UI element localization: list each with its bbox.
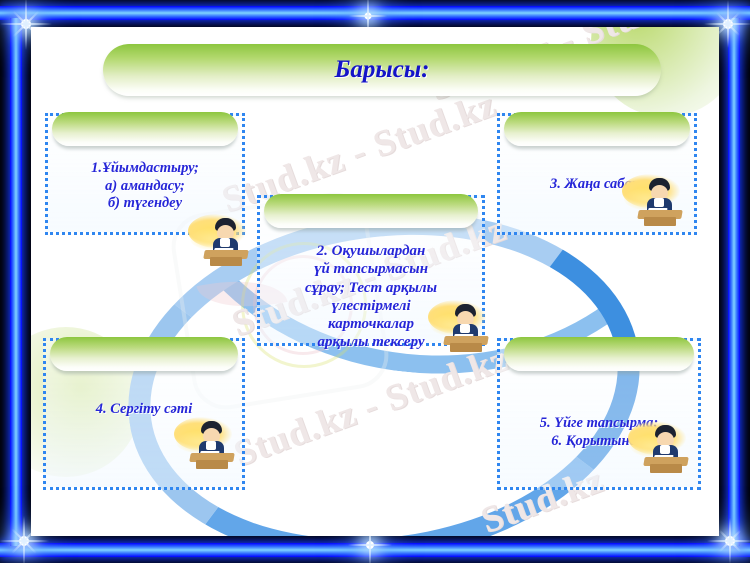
neon-border-right	[728, 18, 740, 546]
content-box-4[interactable]: 4. Сергіту сәті	[43, 338, 245, 490]
slide-frame: Stud.kz - Stud.kz Stud.kz - Stud.kz Stud…	[0, 0, 750, 563]
box-header-bar	[504, 112, 690, 146]
neon-border-left	[10, 18, 22, 546]
student-at-desk-icon	[622, 172, 684, 228]
content-line: 1.Ұйымдастыру;	[48, 160, 242, 178]
box-header-bar	[50, 337, 238, 371]
content-box-1-text: 1.Ұйымдастыру; а) амандасу; б) түгендеу	[48, 160, 242, 213]
content-box-2[interactable]: 2. Оқушылардан үй тапсырмасын сұрау; Тес…	[257, 195, 485, 346]
content-line: сұрау; Тест арқылы	[260, 279, 482, 297]
student-at-desk-icon	[428, 298, 490, 354]
student-at-desk-icon	[174, 415, 236, 471]
content-line: үй тапсырмасын	[260, 260, 482, 278]
content-box-3[interactable]: 3. Жаңа сабақ;	[497, 113, 697, 235]
page-title: Барысы:	[335, 56, 430, 84]
content-line: б) түгендеу	[48, 195, 242, 213]
content-box-1[interactable]: 1.Ұйымдастыру; а) амандасу; б) түгендеу	[45, 113, 245, 235]
student-at-desk-icon	[188, 212, 250, 268]
title-banner: Барысы:	[103, 44, 661, 96]
box-header-bar	[52, 112, 238, 146]
box-header-bar	[504, 337, 694, 371]
student-at-desk-icon	[628, 419, 690, 475]
box-header-bar	[264, 194, 478, 228]
content-line: 2. Оқушылардан	[260, 242, 482, 260]
neon-border-top	[0, 6, 750, 20]
content-line: а) амандасу;	[48, 178, 242, 196]
content-box-5[interactable]: 5. Үйге тапсырма; 6. Қорытынды	[497, 338, 701, 490]
neon-border-bottom	[0, 543, 750, 557]
slide-canvas: Stud.kz - Stud.kz Stud.kz - Stud.kz Stud…	[31, 27, 719, 536]
